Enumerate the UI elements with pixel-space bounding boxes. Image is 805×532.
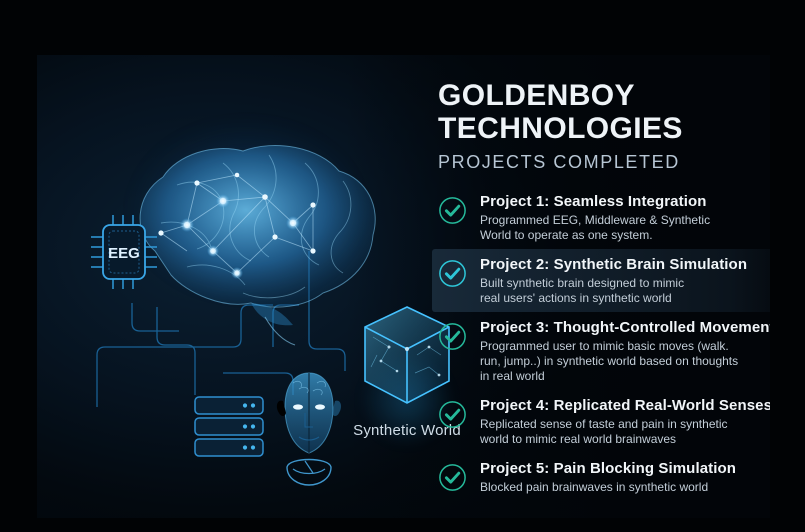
brain-icon [140,145,375,345]
check-circle-icon [438,196,467,225]
brand-line-2: TECHNOLOGIES [438,112,770,145]
text-content: GOLDENBOY TECHNOLOGIES PROJECTS COMPLETE… [400,55,770,518]
project-description: Replicated sense of taste and pain in sy… [480,417,770,447]
android-head-icon [277,373,341,485]
project-title: Project 4: Replicated Real-World Senses [480,396,770,415]
list-item[interactable]: Project 2: Synthetic Brain Simulation Bu… [432,249,770,312]
project-title: Project 2: Synthetic Brain Simulation [480,255,770,274]
infographic-slide: EEG [0,0,805,532]
content-panel: EEG [37,55,770,518]
check-circle-icon [438,322,467,351]
diagram-illustration: EEG [37,55,457,518]
page-title: GOLDENBOY TECHNOLOGIES [438,79,770,145]
project-title: Project 1: Seamless Integration [480,192,770,211]
page-subtitle: PROJECTS COMPLETED [438,152,680,173]
check-circle-icon [438,400,467,429]
list-item[interactable]: Project 5: Pain Blocking Simulation Bloc… [432,453,770,501]
projects-list: Project 1: Seamless Integration Programm… [432,186,770,501]
list-item[interactable]: Project 4: Replicated Real-World Senses … [432,390,770,453]
project-description: Built synthetic brain designed to mimic … [480,276,770,306]
list-item[interactable]: Project 1: Seamless Integration Programm… [432,186,770,249]
list-item[interactable]: Project 3: Thought-Controlled Movement P… [432,312,770,390]
check-circle-icon [438,463,467,492]
brand-line-1: GOLDENBOY [438,79,770,112]
project-description: Blocked pain brainwaves in synthetic wor… [480,480,770,495]
diagram-svg: EEG [37,55,457,518]
check-circle-icon [438,259,467,288]
eeg-chip-label: EEG [108,245,140,262]
project-title: Project 5: Pain Blocking Simulation [480,459,770,478]
server-stack-icon [195,397,263,456]
project-description: Programmed user to mimic basic moves (wa… [480,339,770,384]
project-description: Programmed EEG, Middleware & Synthetic W… [480,213,770,243]
project-title: Project 3: Thought-Controlled Movement [480,318,770,337]
